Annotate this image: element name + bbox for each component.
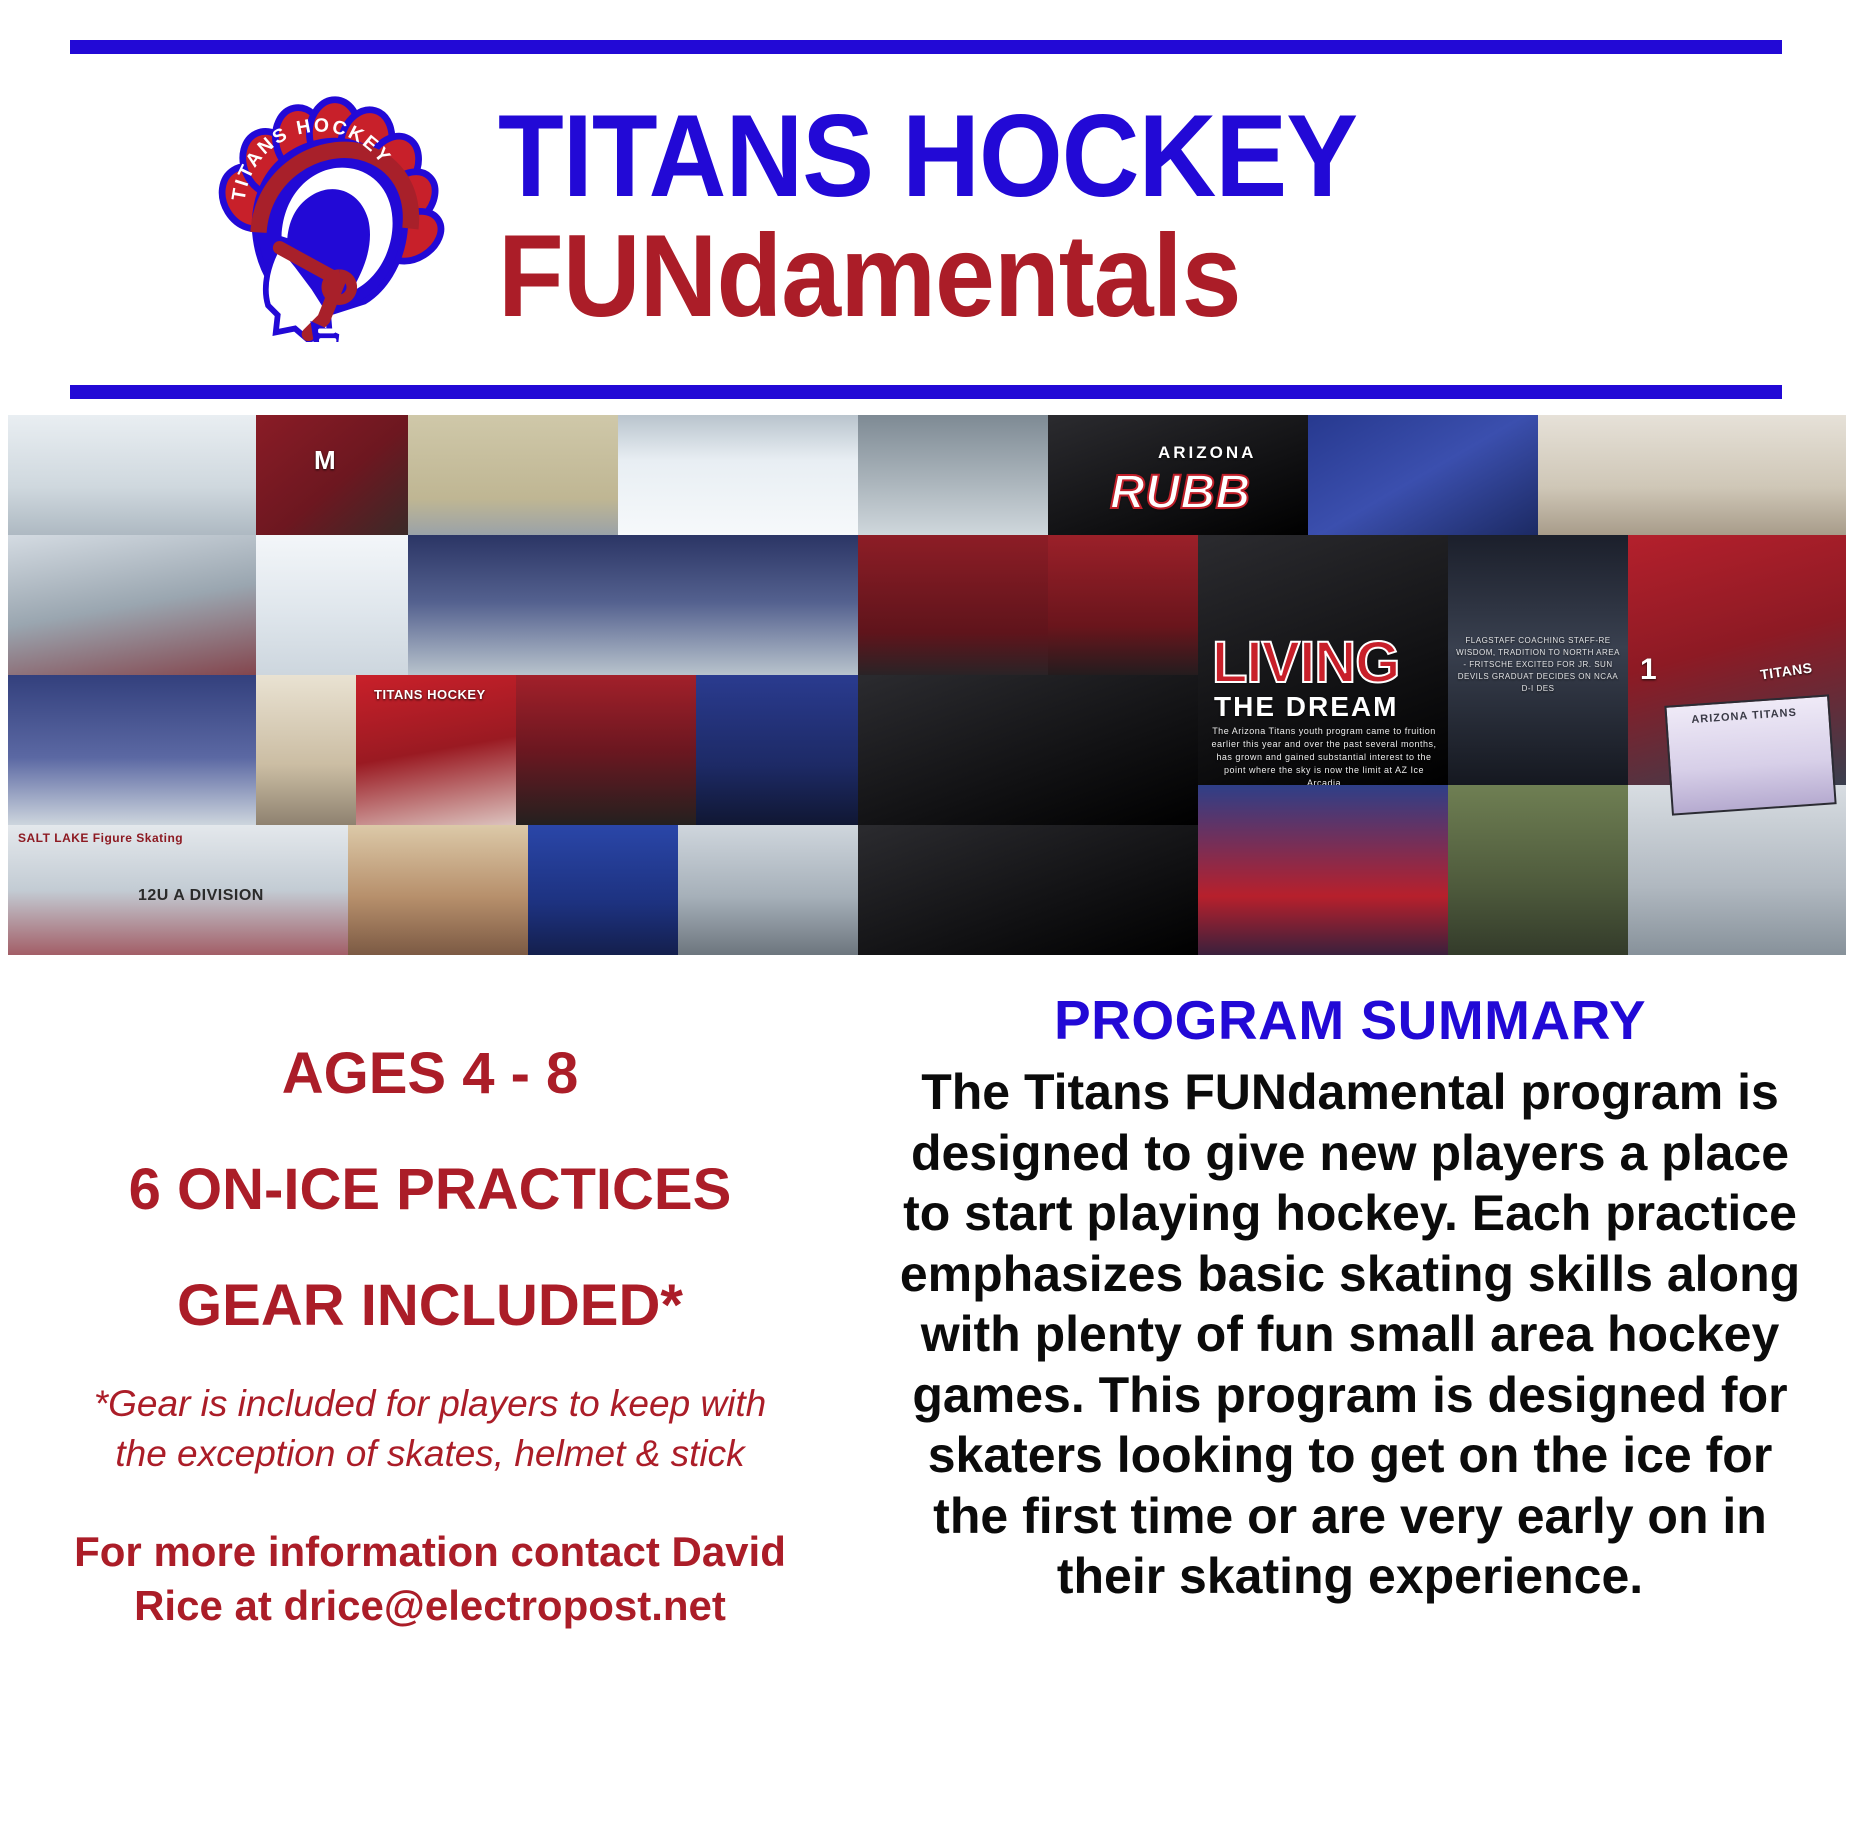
flyer-root: TITANS HOCKEY TITANS HOCKEY FUNdamentals…: [0, 0, 1852, 1838]
collage-photo-pucks-stack: [858, 675, 1198, 825]
collage-photo-puck-closeup: [256, 535, 408, 675]
collage-caption-staff-note: FLAGSTAFF COACHING STAFF-RE WISDOM, TRAD…: [1456, 635, 1620, 695]
header-rule-bottom: [70, 385, 1782, 399]
contact-info[interactable]: For more information contact David Rice …: [50, 1525, 810, 1634]
collage-photo-coach-cap: [678, 825, 858, 955]
ages-line: AGES 4 - 8: [30, 1042, 830, 1106]
collage-caption-salt-lake: SALT LAKE Figure Skating: [18, 831, 183, 845]
collage-photo-boy-portrait-top: [1538, 415, 1846, 535]
collage-photo-rink-glass: [618, 415, 858, 535]
collage-caption-titans-hockey-shirt: TITANS HOCKEY: [374, 687, 486, 702]
collage-photo-goalie-net: [8, 535, 256, 675]
collage-photo-team-photo-banner: [408, 535, 858, 675]
collage-photo-coach-and-players: [696, 675, 858, 825]
collage-photo-smiling-boy: [348, 825, 528, 955]
page-title-primary: TITANS HOCKEY: [498, 96, 1679, 215]
collage-photo-goalie-red: [1048, 535, 1198, 675]
collage-caption-the-dream: THE DREAM: [1214, 691, 1398, 723]
program-summary-title: PROGRAM SUMMARY: [888, 988, 1812, 1052]
collage-photo-division-banner: SALT LAKE Figure Skating 12U A DIVISION: [8, 825, 348, 955]
title-block: TITANS HOCKEY FUNdamentals: [488, 96, 1782, 338]
collage-photo-red-jersey-m: M: [256, 415, 408, 535]
collage-photo-locker-room: [256, 675, 356, 825]
collage-photo-net-setup: [1448, 785, 1628, 955]
page-title-secondary: FUNdamentals: [498, 215, 1679, 338]
collage-caption-division-banner: 12U A DIVISION: [138, 887, 264, 905]
right-column: PROGRAM SUMMARY The Titans FUNdamental p…: [860, 960, 1852, 1838]
collage-photo-arizona-rubber-banner: ARIZONA RUBB: [1048, 415, 1308, 535]
collage-photo-living-the-dream-article: LIVING THE DREAM The Arizona Titans yout…: [1198, 535, 1448, 785]
collage-caption-jumbotron: ARIZONA TITANS: [1691, 707, 1797, 726]
titans-hockey-logo: TITANS HOCKEY: [170, 92, 470, 342]
collage-photo-jumbotron: ARIZONA TITANS: [1664, 694, 1836, 815]
practices-line: 6 ON-ICE PRACTICES: [30, 1158, 830, 1222]
collage-photo-lobby: [408, 415, 618, 535]
collage-caption-letter-m: M: [314, 445, 336, 476]
photo-collage: M ARIZONA RUBB LIVING THE DREAM The Ariz…: [8, 415, 1846, 955]
collage-caption-arizona: ARIZONA: [1158, 443, 1256, 463]
collage-caption-jersey-titans: TITANS: [1759, 659, 1813, 682]
collage-photo-jacket: [528, 825, 678, 955]
collage-photo-skater-action: [1198, 785, 1448, 955]
collage-photo-flagstaff-article: FLAGSTAFF COACHING STAFF-RE WISDOM, TRAD…: [1448, 535, 1628, 785]
collage-photo-titans-shirt-boy: TITANS HOCKEY: [356, 675, 516, 825]
collage-photo-team-huddle: [1308, 415, 1538, 535]
collage-photo-puck-pile: [858, 825, 1198, 955]
collage-photo-red-team-group: [858, 535, 1048, 675]
collage-photo-red-bench: [516, 675, 696, 825]
collage-photo-bench-kids: [8, 415, 256, 535]
header-rule-top: [70, 40, 1782, 54]
collage-caption-living: LIVING: [1212, 629, 1399, 696]
header: TITANS HOCKEY TITANS HOCKEY FUNdamentals: [70, 62, 1782, 372]
program-summary-body: The Titans FUNdamental program is design…: [888, 1062, 1812, 1607]
collage-caption-jersey-number: 1: [1640, 653, 1657, 687]
gear-line: GEAR INCLUDED*: [30, 1274, 830, 1338]
gear-footnote: *Gear is included for players to keep wi…: [65, 1379, 795, 1478]
collage-photo-group-on-ice: [8, 675, 256, 825]
collage-caption-rubber: RUBB: [1110, 465, 1251, 520]
collage-caption-dream-body: The Arizona Titans youth program came to…: [1208, 725, 1440, 785]
left-column: AGES 4 - 8 6 ON-ICE PRACTICES GEAR INCLU…: [0, 960, 860, 1838]
spartan-helmet-icon: TITANS HOCKEY: [195, 92, 445, 342]
collage-photo-team-lineup: [858, 415, 1048, 535]
bottom-section: AGES 4 - 8 6 ON-ICE PRACTICES GEAR INCLU…: [0, 960, 1852, 1838]
